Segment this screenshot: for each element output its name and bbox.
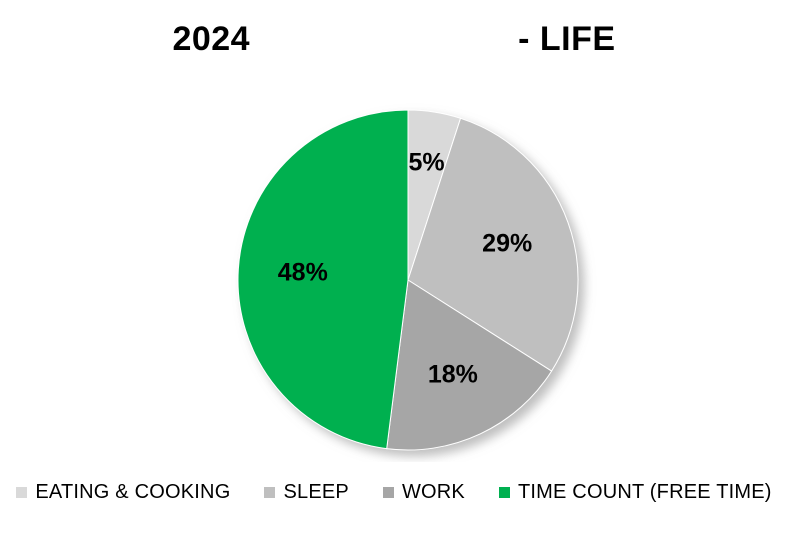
chart-title: 2024- LIFE	[0, 16, 788, 62]
legend-color-swatch	[264, 487, 275, 498]
plot-area: 5%29%18%48%	[0, 70, 788, 462]
pie-slice-label: 29%	[482, 230, 532, 259]
pie-svg	[0, 70, 788, 462]
legend-item[interactable]: WORK	[383, 481, 465, 504]
legend-item-label: EATING & COOKING	[35, 481, 230, 504]
legend-item[interactable]: EATING & COOKING	[16, 481, 230, 504]
pie-slice-label: 48%	[278, 259, 328, 288]
legend-item-label: WORK	[402, 481, 465, 504]
legend-color-swatch	[499, 487, 510, 498]
chart-title-suffix: - LIFE	[518, 20, 615, 59]
chart-title-year: 2024	[172, 20, 250, 59]
legend-item-label: TIME COUNT (FREE TIME)	[518, 481, 772, 504]
legend-item-label: SLEEP	[283, 481, 348, 504]
legend-item[interactable]: TIME COUNT (FREE TIME)	[499, 481, 772, 504]
pie-slice-label: 5%	[409, 148, 445, 177]
legend-color-swatch	[16, 487, 27, 498]
chart-legend: EATING & COOKINGSLEEPWORKTIME COUNT (FRE…	[0, 472, 788, 512]
pie-chart-figure: 2024- LIFE 5%29%18%48% EATING & COOKINGS…	[0, 0, 788, 540]
legend-color-swatch	[383, 487, 394, 498]
legend-item[interactable]: SLEEP	[264, 481, 348, 504]
pie-slice-label: 18%	[428, 361, 478, 390]
